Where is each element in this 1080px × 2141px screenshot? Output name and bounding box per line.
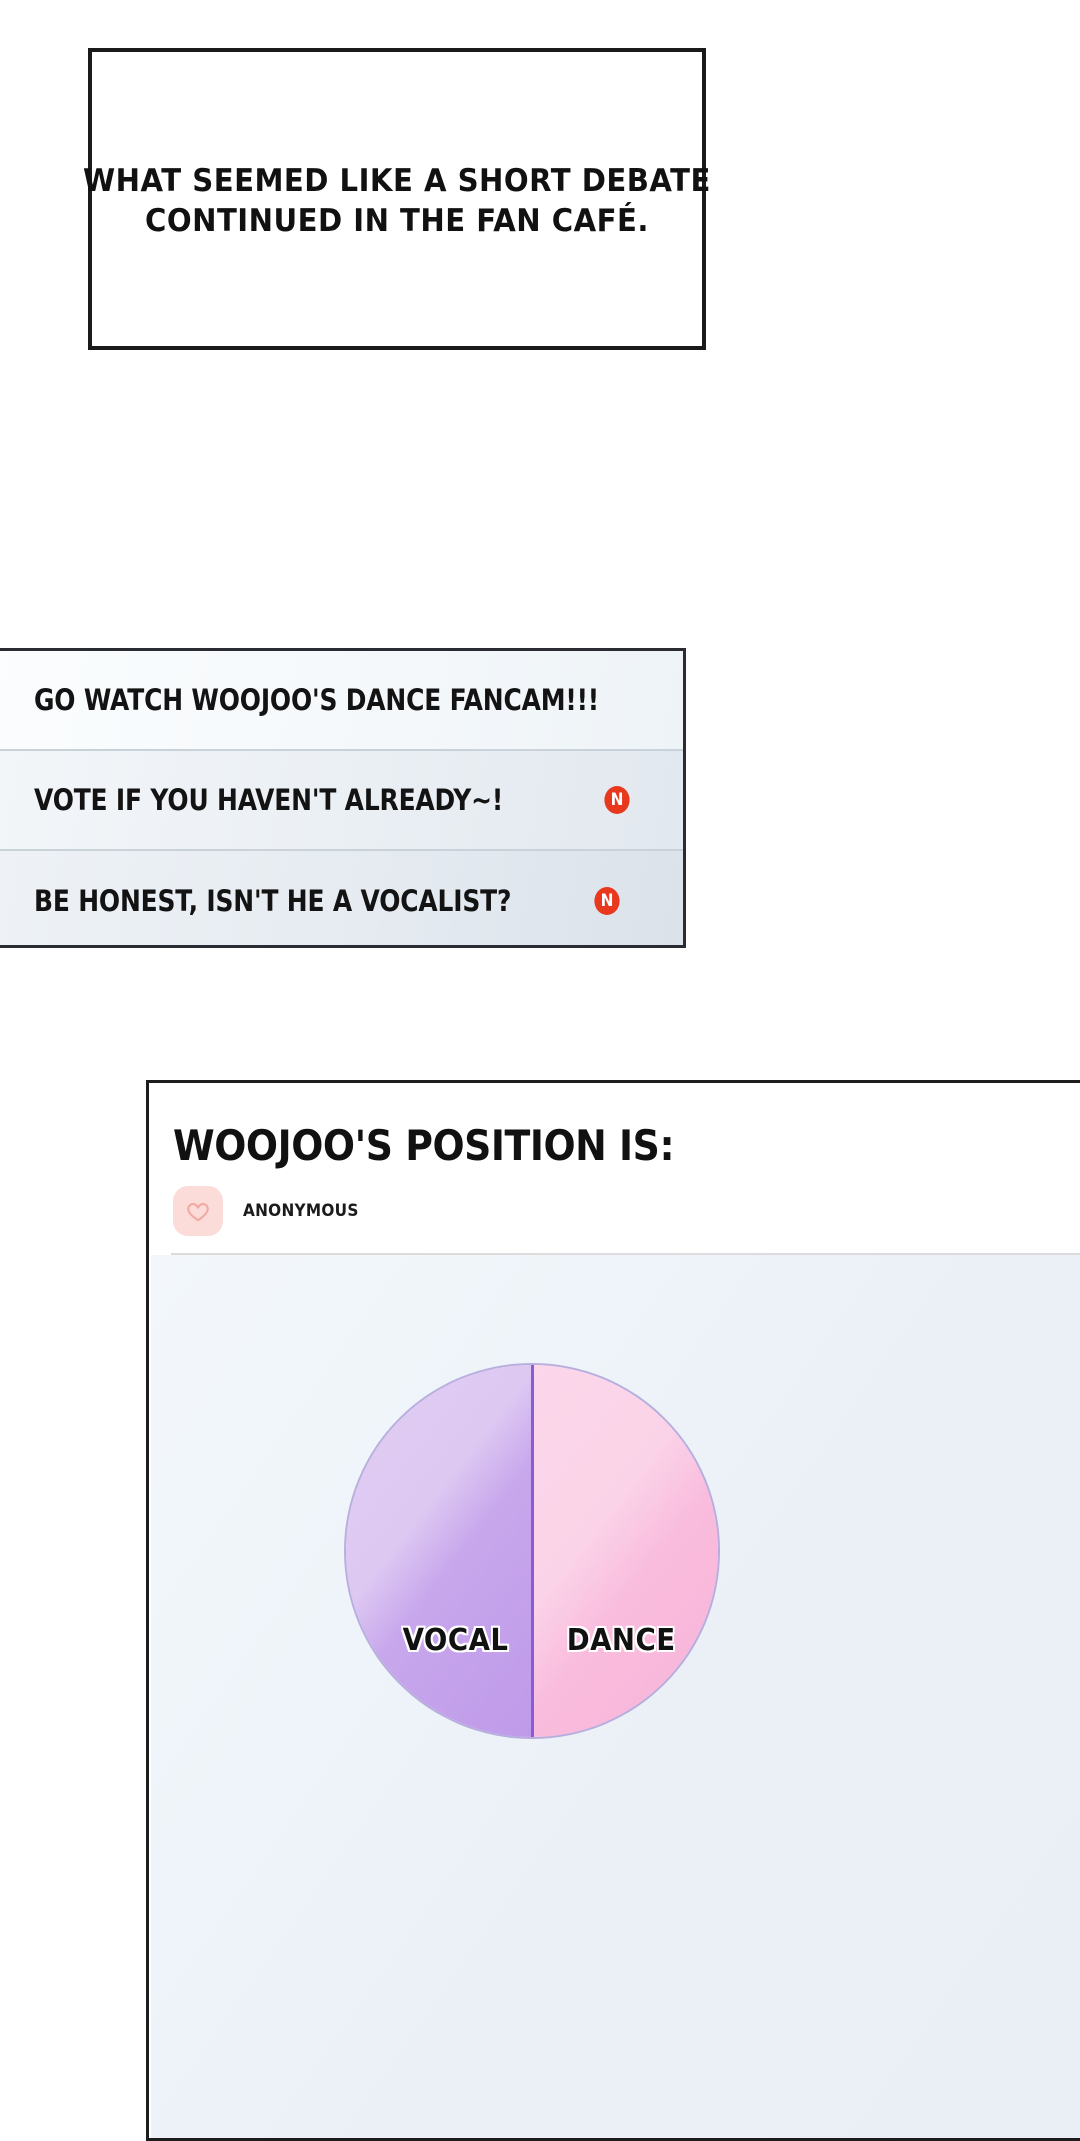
avatar <box>173 1186 223 1236</box>
post-title: BE HONEST, ISN'T HE A VOCALIST? <box>34 884 511 918</box>
pie-slice-dance <box>532 1365 718 1737</box>
naver-n-icon: N <box>594 887 619 915</box>
pie-chart: VOCAL DANCE <box>346 1365 718 1737</box>
fan-cafe-post-list: GO WATCH WOOJOO'S DANCE FANCAM!!! N VOTE… <box>0 648 686 948</box>
author-name: ANONYMOUS <box>243 1201 359 1221</box>
pie-label-dance: DANCE <box>566 1623 675 1658</box>
poll-author: ANONYMOUS <box>173 1186 372 1236</box>
list-item[interactable]: GO WATCH WOOJOO'S DANCE FANCAM!!! N <box>0 651 683 751</box>
pie-circle <box>346 1365 718 1737</box>
list-item[interactable]: VOTE IF YOU HAVEN'T ALREADY~! N <box>0 751 683 851</box>
narration-line-2: CONTINUED IN THE FAN CAFÉ. <box>83 202 711 242</box>
poll-card: WOOJOO'S POSITION IS: ANONYMOUS VOCAL <box>146 1080 1080 2141</box>
naver-n-icon: N <box>605 786 630 814</box>
pie-slice-vocal <box>346 1365 532 1737</box>
pie-slice-divider <box>531 1365 534 1737</box>
webtoon-page: WHAT SEEMED LIKE A SHORT DEBATE CONTINUE… <box>0 0 1080 2141</box>
narration-line-1: WHAT SEEMED LIKE A SHORT DEBATE <box>83 162 711 202</box>
post-title: GO WATCH WOOJOO'S DANCE FANCAM!!! <box>34 683 599 717</box>
poll-title: WOOJOO'S POSITION IS: <box>173 1121 674 1170</box>
list-item[interactable]: BE HONEST, ISN'T HE A VOCALIST? N <box>0 851 683 948</box>
post-title: VOTE IF YOU HAVEN'T ALREADY~! <box>34 783 503 817</box>
poll-chart-area: VOCAL DANCE <box>151 1255 1080 2141</box>
heart-icon <box>185 1198 211 1224</box>
narration-text: WHAT SEEMED LIKE A SHORT DEBATE CONTINUE… <box>83 156 711 241</box>
narration-panel: WHAT SEEMED LIKE A SHORT DEBATE CONTINUE… <box>88 48 706 350</box>
pie-label-vocal: VOCAL <box>403 1623 509 1658</box>
